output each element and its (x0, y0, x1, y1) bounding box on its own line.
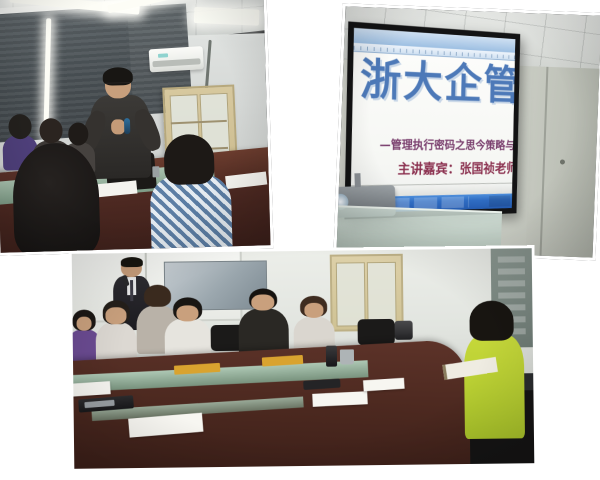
photo-projection-screen[interactable]: 浙大企管中心 —管理执行密码之思今策略与操作规范 主讲嘉宾：张国祯老师 (334, 3, 600, 260)
person-head (39, 118, 63, 143)
slide-title: 浙大企管中心 (360, 58, 509, 106)
person-face (176, 305, 198, 321)
cabinet-pane (367, 262, 396, 326)
photo-meeting-room-speaker[interactable] (0, 0, 274, 256)
system-tray[interactable] (489, 195, 510, 207)
office-chair (358, 319, 395, 345)
person-head (469, 300, 514, 341)
person-face (105, 307, 126, 324)
bottle (326, 345, 337, 367)
glasses-icon (106, 82, 130, 88)
cup (340, 349, 354, 364)
foreground-person-checkered (149, 134, 233, 253)
cabinet-pane (336, 262, 365, 326)
wall-right (526, 38, 600, 258)
thermos (395, 321, 414, 341)
person-face (251, 294, 274, 310)
person-face (304, 303, 324, 318)
ac-indicator (157, 54, 168, 59)
person-face (76, 316, 92, 331)
person-body (150, 174, 233, 253)
person-head (163, 134, 215, 185)
photo-collage: 浙大企管中心 —管理执行密码之思今策略与操作规范 主讲嘉宾：张国祯老师 (0, 0, 600, 480)
slide-speaker-line: 主讲嘉宾：张国祯老师 (398, 159, 513, 179)
presenter-hair (121, 257, 143, 267)
standing-speaker (87, 69, 152, 178)
photo-1-scene (0, 0, 271, 253)
photo-conference-room-audience[interactable] (69, 245, 538, 472)
slide-subtitle: —管理执行密码之思今策略与操作规范 (379, 135, 513, 152)
photo-3-scene (72, 248, 535, 469)
air-conditioner (149, 46, 204, 72)
microphone (124, 118, 130, 134)
paper-sheet (312, 391, 368, 406)
presenter-tie (130, 280, 134, 301)
photo-2-scene: 浙大企管中心 —管理执行密码之思今策略与操作规范 主讲嘉宾：张国祯老师 (337, 6, 600, 257)
foreground-person-head (11, 142, 101, 252)
person-body (464, 335, 525, 440)
person-head (68, 122, 89, 145)
ceiling-light-panel (194, 7, 259, 26)
